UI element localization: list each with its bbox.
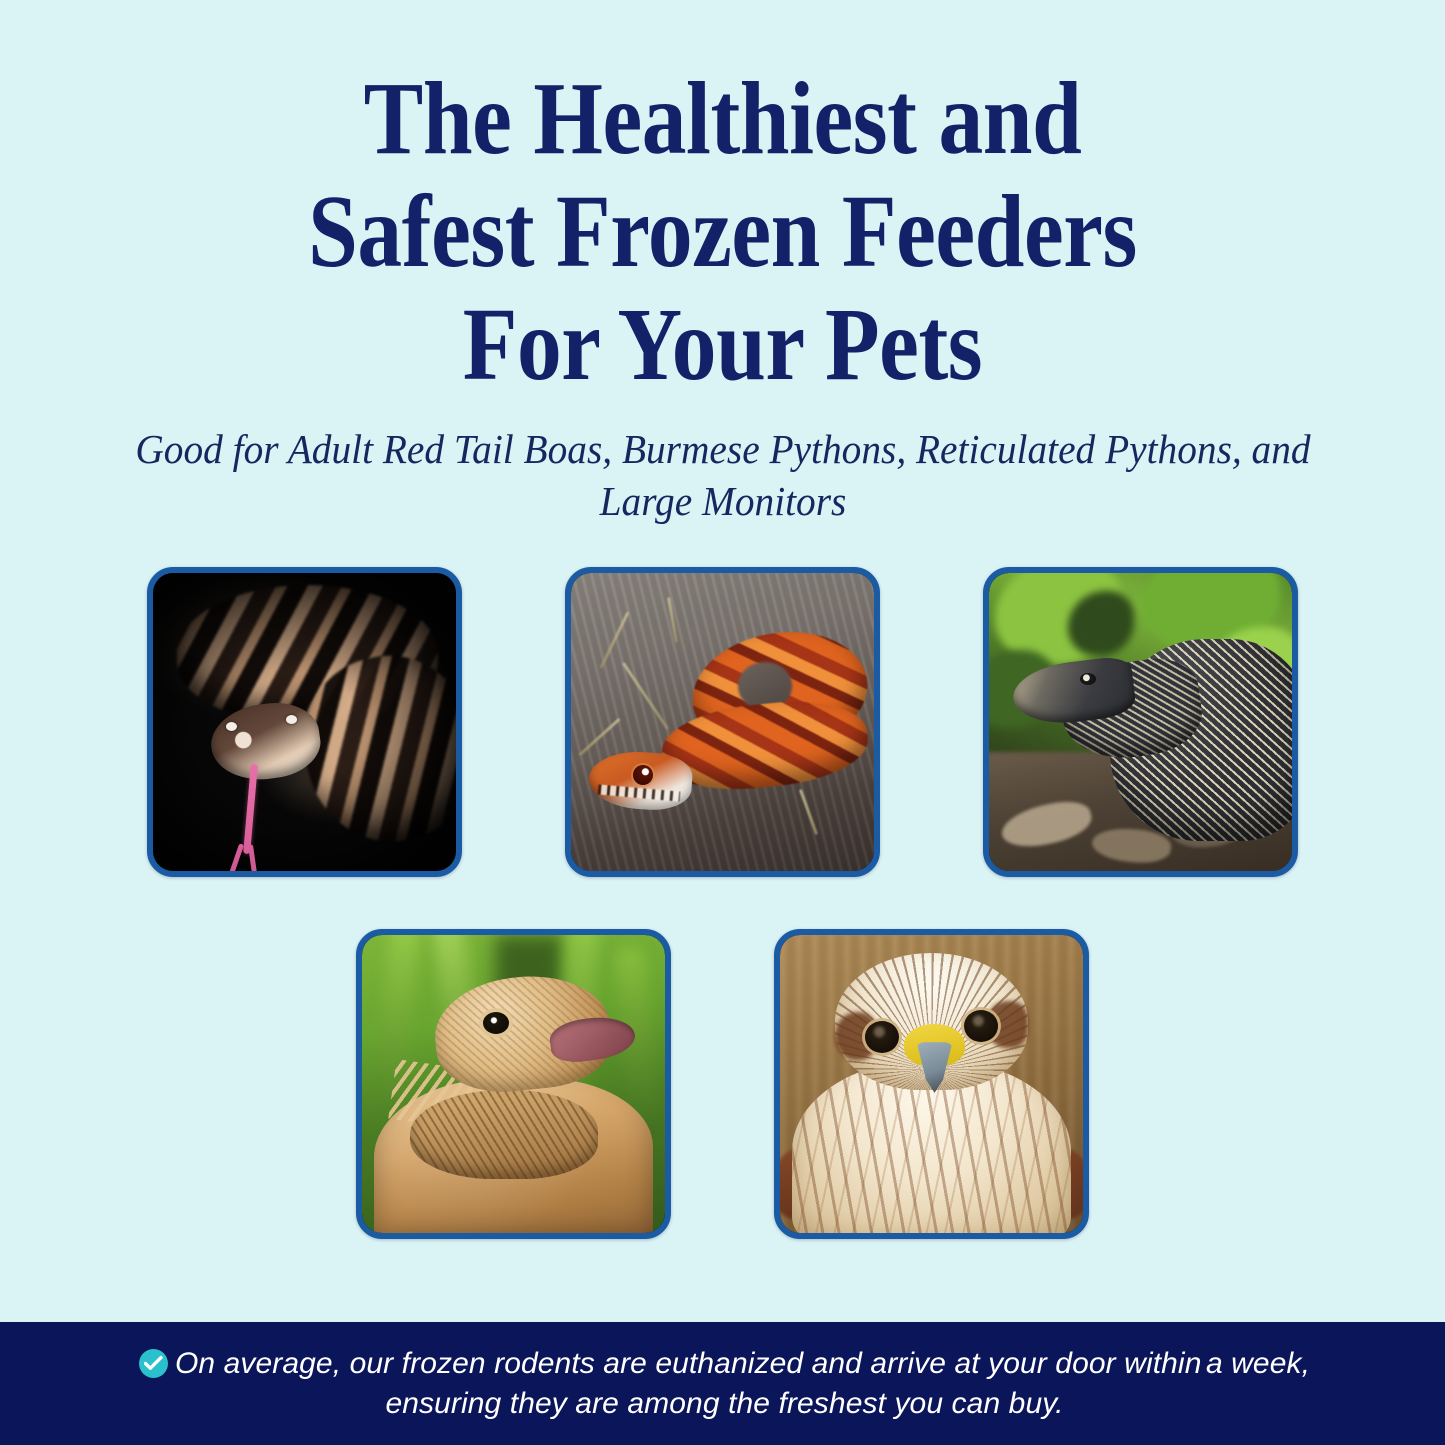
promo-banner: The Healthiest and Safest Frozen Feeders… bbox=[0, 0, 1445, 1445]
headline-line-3: For Your Pets bbox=[136, 288, 1310, 401]
corn-snake-photo bbox=[571, 573, 874, 871]
footer-content: On average, our frozen rodents are eutha… bbox=[121, 1344, 1325, 1424]
falcon-photo bbox=[780, 935, 1083, 1233]
footer-text-line-1: On average, our frozen rodents are eutha… bbox=[175, 1347, 1202, 1380]
python-eye-left bbox=[226, 722, 237, 731]
gallery-row-bottom bbox=[0, 929, 1445, 1239]
page-title: The Healthiest and Safest Frozen Feeders… bbox=[101, 62, 1344, 401]
animal-card-ball-python[interactable] bbox=[147, 567, 462, 877]
animal-card-corn-snake[interactable] bbox=[565, 567, 880, 877]
headline-line-1: The Healthiest and bbox=[136, 62, 1310, 175]
animal-card-monitor-lizard[interactable] bbox=[983, 567, 1298, 877]
dragon-beard bbox=[410, 1090, 598, 1179]
subtitle: Good for Adult Red Tail Boas, Burmese Py… bbox=[123, 423, 1323, 527]
bearded-dragon-photo bbox=[362, 935, 665, 1233]
headline-line-2: Safest Frozen Feeders bbox=[136, 175, 1310, 288]
animal-card-falcon[interactable] bbox=[774, 929, 1089, 1239]
gallery-row-top bbox=[0, 567, 1445, 877]
python-eye-right bbox=[286, 715, 297, 724]
animal-card-bearded-dragon[interactable] bbox=[356, 929, 671, 1239]
animal-gallery bbox=[0, 567, 1445, 1239]
falcon-eye-right bbox=[964, 1010, 998, 1042]
monitor-eye bbox=[1080, 673, 1096, 685]
check-circle-icon bbox=[139, 1349, 168, 1378]
footer-banner: On average, our frozen rodents are eutha… bbox=[0, 1322, 1445, 1445]
ball-python-photo bbox=[153, 573, 456, 871]
monitor-lizard-photo bbox=[989, 573, 1292, 871]
headline-block: The Healthiest and Safest Frozen Feeders… bbox=[0, 0, 1445, 401]
